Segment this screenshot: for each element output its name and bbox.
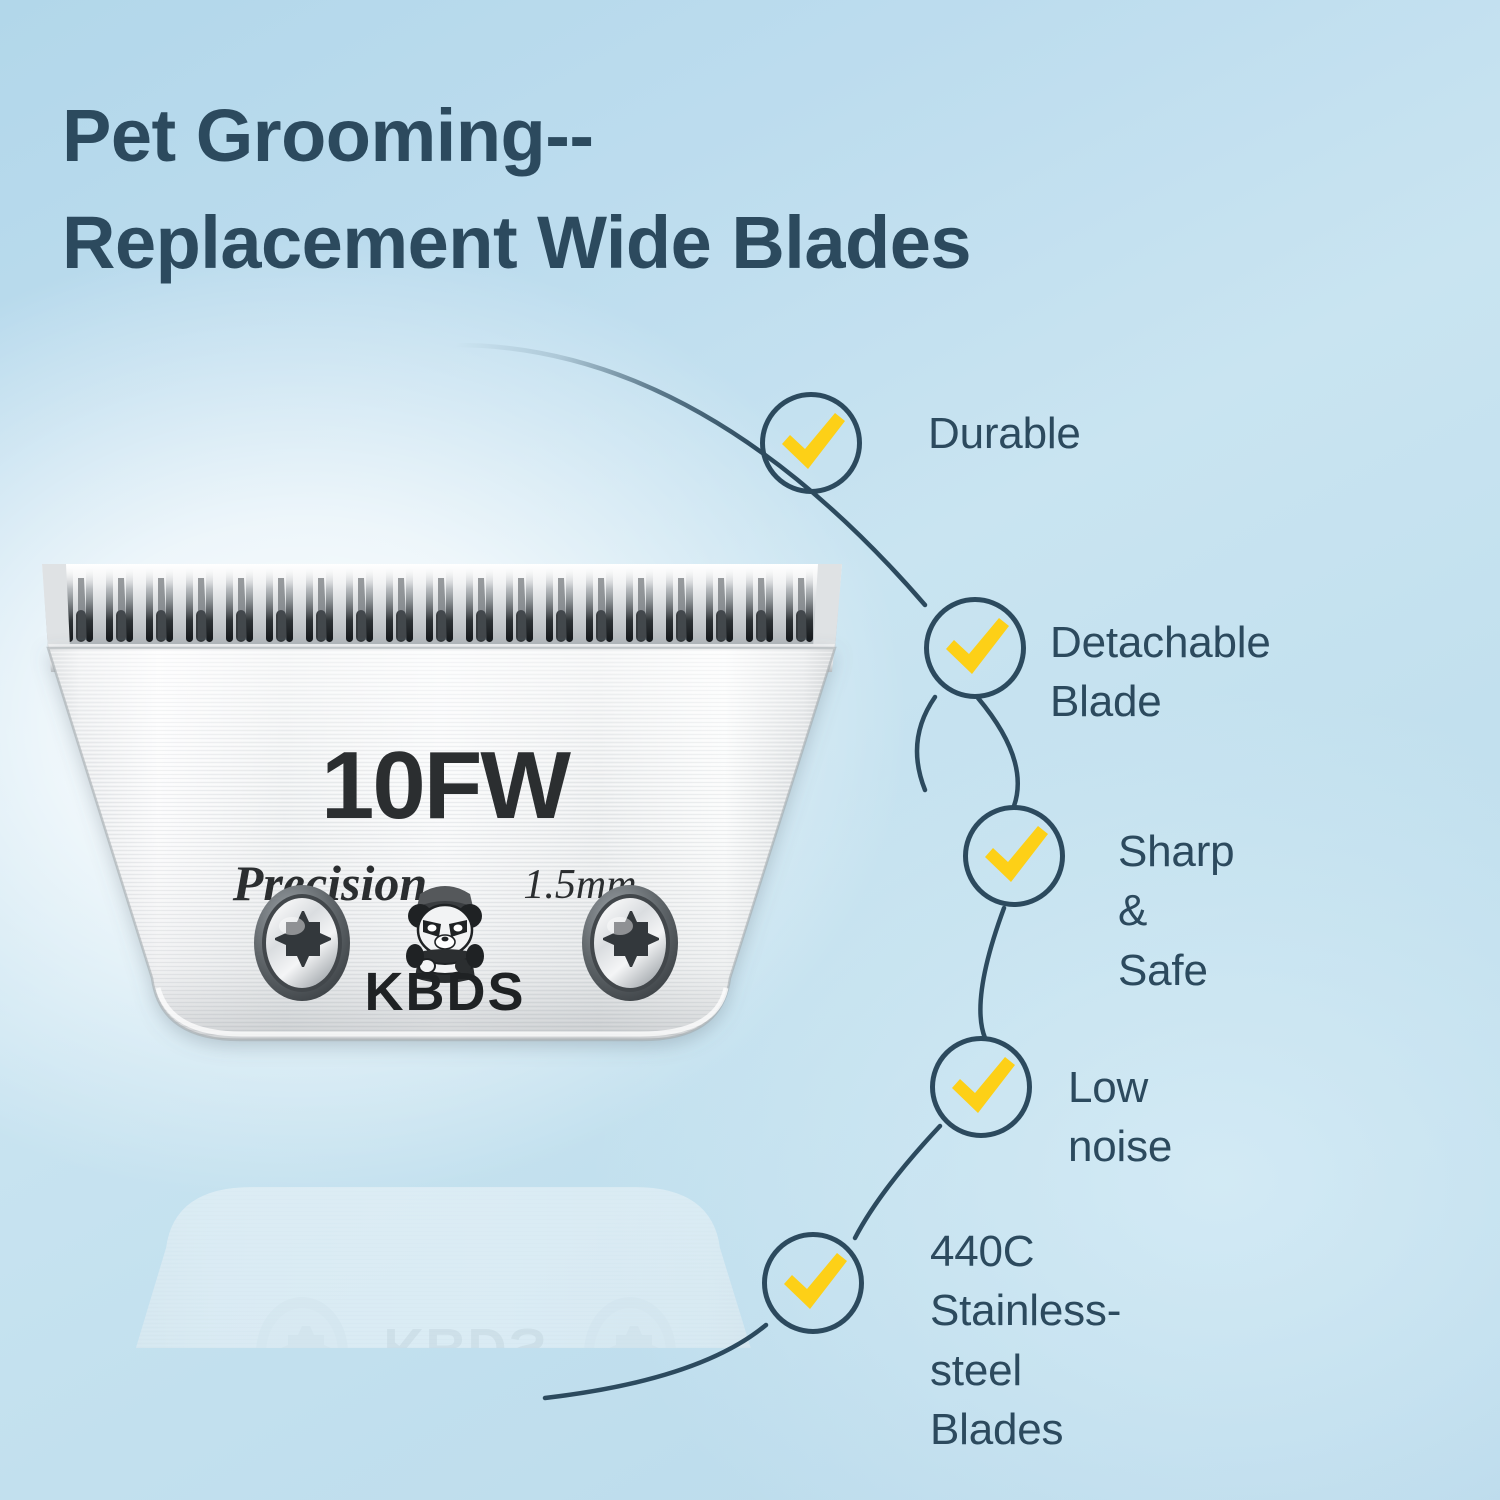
page-title: Pet Grooming-- Replacement Wide Blades xyxy=(62,82,1382,297)
feature-label-durable: Durable xyxy=(928,404,1081,463)
svg-text:KBDS: KBDS xyxy=(383,1317,548,1348)
check-icon-detachable-blade[interactable] xyxy=(924,597,1026,699)
blade-screw-right xyxy=(582,885,678,1001)
feature-label-low-noise: Low noise xyxy=(1068,1058,1172,1177)
check-icon-low-noise[interactable] xyxy=(930,1036,1032,1138)
check-icon-durable[interactable] xyxy=(760,392,862,494)
feature-label-detachable-blade: Detachable Blade xyxy=(1050,613,1271,732)
product-image: KBDS Precision 1.5mm xyxy=(30,548,860,1348)
blade-model-text: 10FW xyxy=(321,732,571,839)
feature-label-sharp-and-safe: Sharp & Safe xyxy=(1118,822,1234,1000)
check-icon-440c-stainless-steel-blades[interactable] xyxy=(762,1232,864,1334)
blade-screw-left xyxy=(254,885,350,1001)
infographic-canvas: Pet Grooming-- Replacement Wide Blades xyxy=(0,0,1500,1500)
brand-wordmark-text: KBDS xyxy=(364,962,525,1022)
product-reflection: KBDS Precision 1.5mm xyxy=(30,1173,860,1348)
check-icon-sharp-and-safe[interactable] xyxy=(963,805,1065,907)
feature-label-440c-stainless-steel-blades: 440C Stainless-steel Blades xyxy=(930,1222,1121,1460)
